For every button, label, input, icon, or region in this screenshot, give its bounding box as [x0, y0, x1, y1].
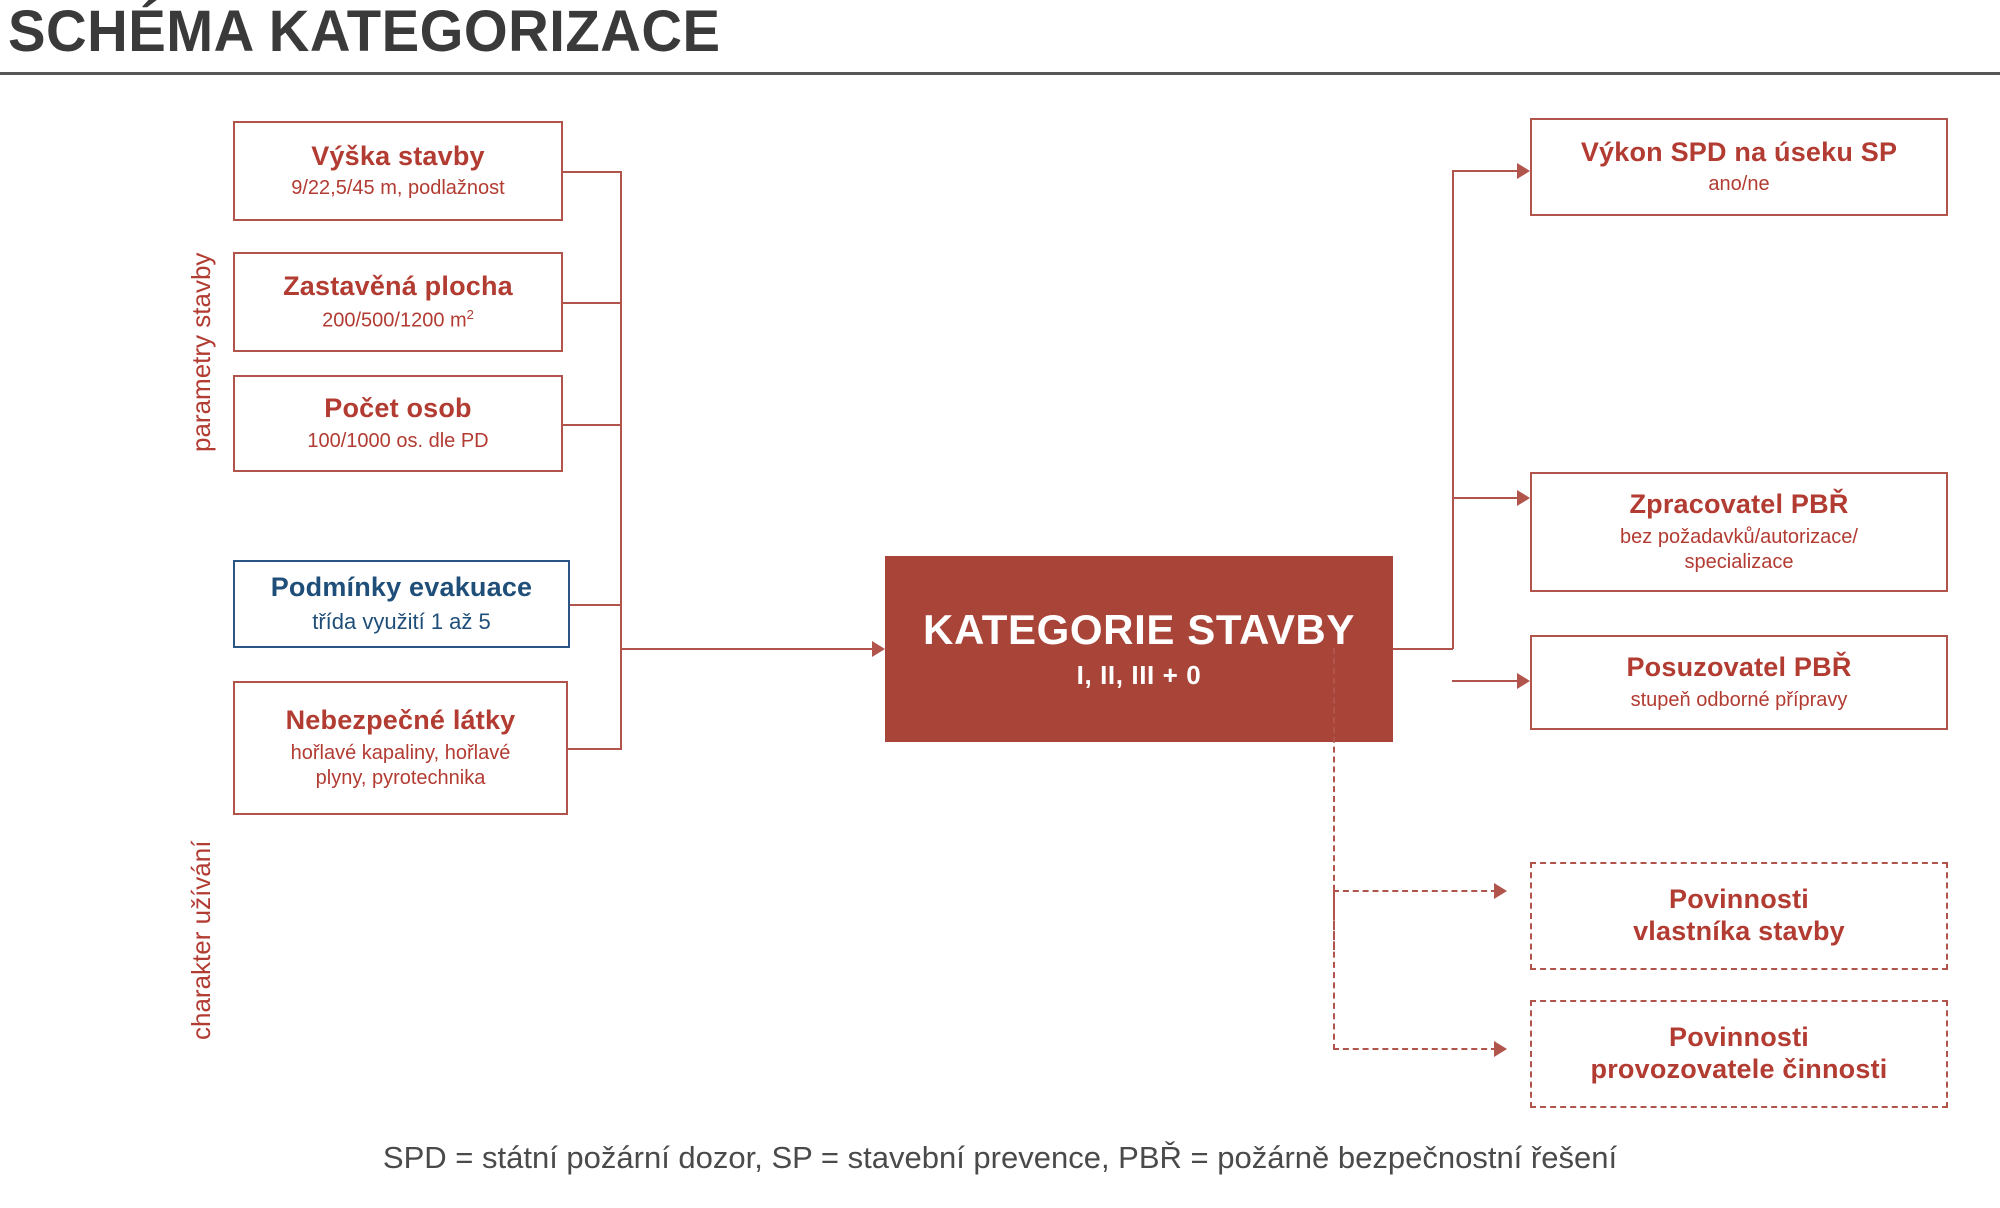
- input-box-pocet-osob[interactable]: Počet osob 100/1000 os. dle PD: [233, 375, 563, 472]
- output-title-vlastnik-line1: Povinnosti: [1669, 884, 1809, 916]
- center-subtitle: I, II, III + 0: [1077, 660, 1202, 691]
- output-title-vlastnik-line2: vlastníka stavby: [1633, 916, 1845, 948]
- plocha-number: 200/500/1200 m: [322, 309, 467, 331]
- connector-bus-right-solid: [1452, 170, 1454, 649]
- arrow-into-vlastnik: [1494, 883, 1507, 899]
- input-subtitle-podminky-evakuace: třída využití 1 až 5: [312, 608, 491, 636]
- output-subtitle-posuzovatel-pbr: stupeň odborné přípravy: [1631, 688, 1848, 713]
- output-subtitle-zpracovatel-line1: bez požadavků/autorizace/: [1620, 525, 1858, 550]
- input-box-vyska-stavby[interactable]: Výška stavby 9/22,5/45 m, podlažnost: [233, 121, 563, 221]
- title-divider: [0, 72, 2000, 75]
- connector-to-posuzovatel: [1452, 680, 1518, 682]
- output-box-vykon-spd[interactable]: Výkon SPD na úseku SP ano/ne: [1530, 118, 1948, 216]
- input-title-nebezpecne-latky: Nebezpečné látky: [286, 705, 516, 737]
- arrow-into-posuzovatel: [1517, 673, 1530, 689]
- arrow-into-vykon: [1517, 163, 1530, 179]
- input-box-nebezpecne-latky[interactable]: Nebezpečné látky hořlavé kapaliny, hořla…: [233, 681, 568, 815]
- connector-dashed-to-provozovatel: [1333, 1048, 1497, 1050]
- input-subtitle-pocet-osob: 100/1000 os. dle PD: [307, 429, 488, 454]
- output-title-provozovatel-line1: Povinnosti: [1669, 1022, 1809, 1054]
- input-title-vyska-stavby: Výška stavby: [311, 141, 485, 173]
- center-box-kategorie-stavby[interactable]: KATEGORIE STAVBY I, II, III + 0: [885, 556, 1393, 742]
- input-subtitle-nebezpecne-latky-line1: hořlavé kapaliny, hořlavé: [291, 741, 511, 766]
- center-title: KATEGORIE STAVBY: [923, 607, 1355, 653]
- footer-legend: SPD = státní požární dozor, SP = stavebn…: [0, 1140, 2000, 1176]
- connector-dashed-to-vlastnik: [1333, 890, 1497, 892]
- output-box-posuzovatel-pbr[interactable]: Posuzovatel PBŘ stupeň odborné přípravy: [1530, 635, 1948, 730]
- side-label-charakter-uzivani: charakter užívání: [186, 841, 217, 1040]
- connector-stub-nebezpecne: [568, 748, 621, 750]
- connector-to-zpracovatel: [1452, 497, 1518, 499]
- input-box-zastavena-plocha[interactable]: Zastavěná plocha 200/500/1200 m2: [233, 252, 563, 352]
- input-title-zastavena-plocha: Zastavěná plocha: [283, 271, 513, 303]
- connector-to-vykon: [1452, 170, 1518, 172]
- input-title-pocet-osob: Počet osob: [324, 393, 472, 425]
- output-subtitle-vykon-spd: ano/ne: [1708, 172, 1769, 197]
- diagram-canvas: SCHÉMA KATEGORIZACE parametry stavby cha…: [0, 0, 2000, 1208]
- arrow-into-zpracovatel: [1517, 490, 1530, 506]
- connector-bus-left: [620, 171, 622, 750]
- arrow-into-provozovatel: [1494, 1041, 1507, 1057]
- output-title-posuzovatel-pbr: Posuzovatel PBŘ: [1626, 652, 1851, 684]
- input-box-podminky-evakuace[interactable]: Podmínky evakuace třída využití 1 až 5: [233, 560, 570, 648]
- output-box-zpracovatel-pbr[interactable]: Zpracovatel PBŘ bez požadavků/autorizace…: [1530, 472, 1948, 592]
- output-title-zpracovatel-pbr: Zpracovatel PBŘ: [1629, 489, 1848, 521]
- connector-stub-evakuace: [570, 604, 621, 606]
- output-subtitle-zpracovatel-line2: specializace: [1685, 550, 1794, 575]
- output-title-provozovatel-line2: provozovatele činnosti: [1591, 1054, 1888, 1086]
- arrow-into-center: [872, 641, 885, 657]
- input-subtitle-zastavena-plocha: 200/500/1200 m2: [322, 307, 474, 334]
- input-title-podminky-evakuace: Podmínky evakuace: [271, 572, 533, 604]
- output-box-povinnosti-provozovatele[interactable]: Povinnosti provozovatele činnosti: [1530, 1000, 1948, 1108]
- connector-left-to-center: [620, 648, 873, 650]
- input-subtitle-nebezpecne-latky-line2: plyny, pyrotechnika: [316, 766, 486, 791]
- connector-stub-plocha: [563, 302, 621, 304]
- connector-stub-osob: [563, 424, 621, 426]
- connector-bus-dashed-lower: [1333, 890, 1335, 1050]
- connector-center-out: [1393, 648, 1453, 650]
- output-title-vykon-spd: Výkon SPD na úseku SP: [1581, 137, 1897, 169]
- output-box-povinnosti-vlastnika[interactable]: Povinnosti vlastníka stavby: [1530, 862, 1948, 970]
- plocha-superscript: 2: [467, 307, 474, 322]
- input-subtitle-vyska-stavby: 9/22,5/45 m, podlažnost: [291, 176, 504, 201]
- side-label-parametry-stavby: parametry stavby: [186, 253, 217, 452]
- page-title: SCHÉMA KATEGORIZACE: [8, 0, 720, 65]
- connector-stub-vyska: [563, 171, 621, 173]
